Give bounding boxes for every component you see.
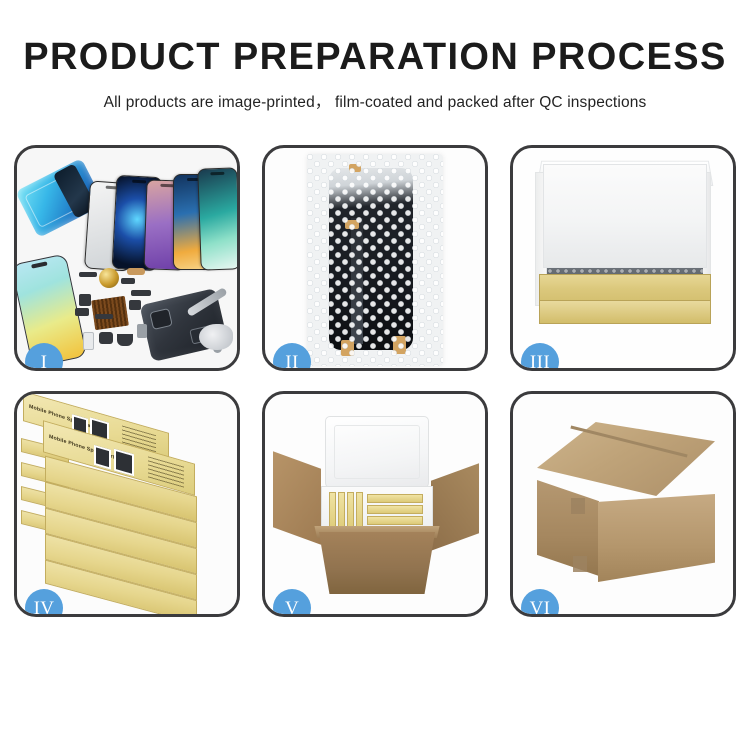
panel-1-illustration bbox=[17, 148, 237, 368]
process-panel-3: III bbox=[510, 145, 736, 371]
packed-box-icon bbox=[367, 516, 423, 525]
logic-board-icon bbox=[91, 296, 129, 330]
packed-box-icon bbox=[367, 505, 423, 514]
flex-cable-icon bbox=[127, 268, 145, 275]
tape-patch-icon bbox=[571, 498, 585, 514]
panel-4-illustration: Mobile Phone Spare Parts Mobile Phone Sp… bbox=[17, 394, 237, 614]
panel-3-illustration bbox=[513, 148, 733, 368]
notch-icon bbox=[210, 172, 224, 175]
panel-2-illustration bbox=[265, 148, 485, 368]
small-part-icon bbox=[129, 300, 141, 310]
camera-module-icon bbox=[99, 332, 113, 344]
sim-tray-icon bbox=[83, 332, 94, 350]
page-title: PRODUCT PREPARATION PROCESS bbox=[0, 38, 750, 78]
wireless-charge-coil-icon bbox=[99, 268, 119, 288]
notch-icon bbox=[132, 180, 146, 184]
foam-lid-icon bbox=[325, 416, 429, 488]
white-box-lid-icon bbox=[543, 164, 707, 268]
carton-top-face-icon bbox=[537, 422, 715, 496]
phone-teal-icon bbox=[197, 167, 237, 270]
speaker-icon bbox=[117, 334, 133, 346]
kraft-tray-front-icon bbox=[539, 300, 711, 324]
carton-left-face-icon bbox=[537, 480, 599, 576]
carton-right-face-icon bbox=[598, 494, 715, 582]
phone-fan-group bbox=[87, 158, 237, 270]
panel-6-illustration bbox=[513, 394, 733, 614]
small-part-icon bbox=[79, 272, 97, 277]
small-part-icon bbox=[95, 314, 113, 319]
process-panel-6: VI bbox=[510, 391, 736, 617]
packed-box-icon bbox=[367, 494, 423, 503]
process-panel-1: I bbox=[14, 145, 240, 371]
process-panel-5: V bbox=[262, 391, 488, 617]
opening-tool-icon bbox=[199, 324, 233, 350]
small-part-icon bbox=[75, 308, 89, 316]
small-part-icon bbox=[121, 278, 135, 284]
bubble-texture-overlay bbox=[307, 154, 443, 366]
bubble-wrap-bag-group bbox=[307, 154, 443, 366]
panel-5-illustration bbox=[265, 394, 485, 614]
page-subtitle: All products are image-printed， film-coa… bbox=[0, 90, 750, 112]
process-panel-grid: I II III bbox=[14, 145, 736, 617]
process-panel-4: Mobile Phone Spare Parts Mobile Phone Sp… bbox=[14, 391, 240, 617]
small-part-icon bbox=[79, 294, 91, 306]
small-part-icon bbox=[137, 324, 147, 338]
carton-flap-left-icon bbox=[273, 451, 321, 544]
carton-body-icon bbox=[311, 532, 443, 594]
small-part-icon bbox=[131, 290, 151, 296]
tape-patch-icon bbox=[573, 556, 587, 572]
header-block: PRODUCT PREPARATION PROCESS All products… bbox=[0, 0, 750, 112]
carton-flap-right-icon bbox=[431, 463, 479, 550]
process-panel-2: II bbox=[262, 145, 488, 371]
